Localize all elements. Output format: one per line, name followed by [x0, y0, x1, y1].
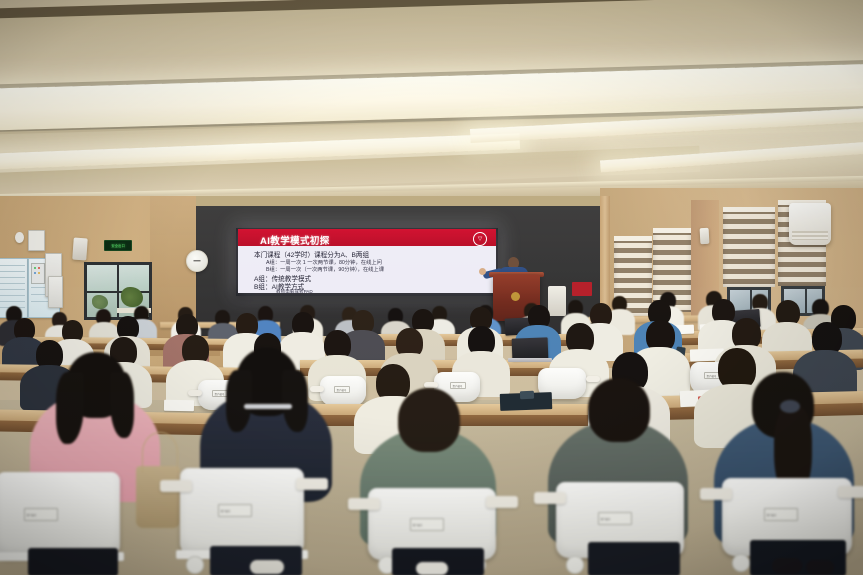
chair-asset-label: 资产编号 [410, 518, 444, 531]
slide-bullet-2: B组：一周一次（一次两节课，90分钟），在线上课 [266, 265, 384, 273]
chair-asset-label-text: 资产编号 [336, 388, 347, 392]
chair-seat [28, 548, 118, 575]
chair-asset-label-text: 资产编号 [600, 517, 611, 521]
wall-control-panel[interactable] [31, 263, 45, 284]
hair-scrunchie [780, 400, 800, 413]
chair-back[interactable] [0, 472, 120, 558]
chair-asset-label-text: 资产编号 [706, 374, 717, 378]
shoe [772, 558, 802, 574]
air-conditioner-unit [789, 203, 831, 245]
red-banner-panel [572, 282, 592, 296]
exit-sign-text: 安全出口 [111, 243, 125, 248]
slide-body: 本门课程（42学时）课程分为A、B两组 A组：一周一次 1 一次两节课，80分钟… [238, 246, 496, 293]
chair-seat [588, 542, 680, 575]
chair-asset-label: 资产编号 [450, 382, 466, 389]
shoe [806, 560, 834, 575]
zebra-blind-3-headrail [723, 207, 775, 212]
chair-asset-label: 资产编号 [764, 508, 798, 521]
chair-asset-label-text: 资产编号 [26, 513, 37, 517]
chair-asset-label-text: 资产编号 [412, 523, 423, 527]
chair-asset-label-text: 资产编号 [452, 384, 463, 388]
university-emblem-icon: ▽ [473, 232, 487, 246]
paper-sheet [164, 400, 194, 412]
laptop-base [508, 358, 552, 362]
presentation-slide: AI教学模式初探 ▽ 本门课程（42学时）课程分为A、B两组 A组：一周一次 1… [238, 229, 496, 293]
wall-clock [186, 250, 208, 272]
attendee-hair [282, 370, 308, 432]
attendee-grey-shirt-head [588, 378, 650, 442]
slide-title: AI教学模式初探 [260, 233, 330, 247]
chair-wheel [186, 556, 204, 574]
wall-box-unit [28, 230, 45, 251]
chair-asset-label: 资产编号 [218, 504, 252, 517]
classroom-photo: 安全出口 AI教学模式初探 ▽ 本门课程（42学时）课程分为A、B两组 A组：一… [0, 0, 863, 575]
chair-armrest [838, 486, 863, 498]
slide-bullet-5: 教师电脑或者PAD [276, 289, 313, 293]
chair-armrest [534, 492, 566, 504]
chair-asset-label: 资产编号 [334, 386, 350, 393]
zebra-blind-1-headrail [614, 236, 652, 241]
presenter-hand [479, 268, 486, 275]
chair-armrest [188, 390, 202, 396]
smoke-detector [15, 232, 24, 243]
chair-armrest [160, 480, 192, 492]
chair-armrest [296, 478, 328, 490]
chair-armrest [486, 496, 518, 508]
wall-cabinet-2[interactable] [48, 276, 63, 308]
shoe [250, 560, 284, 574]
shoe [416, 562, 448, 575]
chair-armrest [700, 488, 732, 500]
zebra-blind-2-headrail [653, 228, 691, 233]
attendee-hair [110, 372, 134, 438]
handbag[interactable] [136, 466, 180, 528]
podium-emblem-icon [511, 292, 520, 301]
chair-armrest [586, 376, 600, 382]
wall-speaker-right [700, 228, 710, 244]
zebra-blind-3[interactable] [723, 209, 775, 287]
chair-asset-label: 资产编号 [24, 508, 58, 521]
chair-asset-label-text: 资产编号 [214, 392, 225, 396]
attendee-green-tshirt-head [398, 388, 460, 452]
chair-wheel [732, 554, 750, 572]
chair-wheel [566, 556, 584, 574]
wall-speaker [72, 238, 88, 261]
smartphone[interactable] [520, 391, 534, 399]
emergency-exit-sign: 安全出口 [104, 240, 132, 251]
chair-asset-label-text: 资产编号 [766, 513, 777, 517]
chair-armrest [348, 498, 380, 510]
side-table [548, 286, 566, 316]
slide-header-bar: AI教学模式初探 ▽ [238, 229, 496, 246]
collar-trim [244, 404, 292, 409]
handbag-strap [142, 432, 178, 473]
chair-asset-label: 资产编号 [598, 512, 632, 525]
chair-armrest [310, 386, 324, 392]
chair-asset-label-text: 资产编号 [220, 509, 231, 513]
